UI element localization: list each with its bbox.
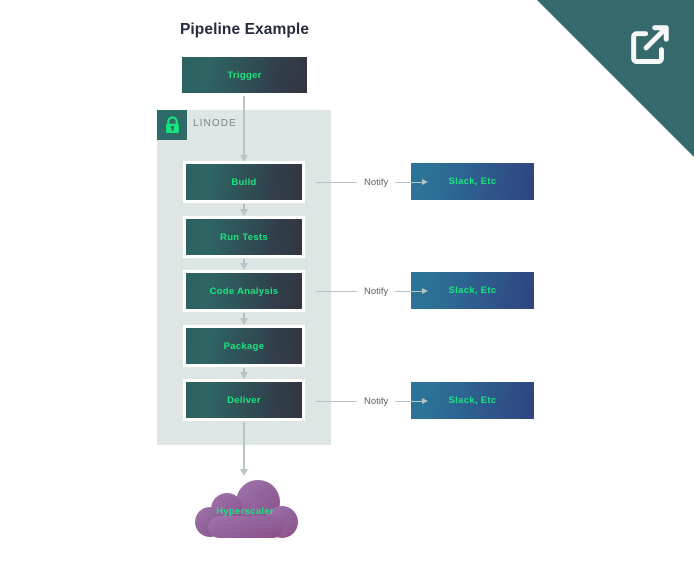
page-title: Pipeline Example [179,20,310,40]
notify-label: Notify [357,177,395,188]
connector-build-to-run-tests [243,204,245,210]
lock-icon [164,116,181,134]
node-trigger-label: Trigger [227,70,261,81]
corner-ribbon[interactable] [534,0,694,160]
edge-line-segment [316,182,357,183]
linode-group-label: LINODE [193,118,237,129]
notify-label: Notify [357,286,395,297]
arrowhead-icon [240,469,248,476]
node-package-label: Package [224,341,265,352]
external-link-icon[interactable] [626,22,672,68]
arrowhead-icon [240,372,248,379]
arrowhead-icon [422,288,428,294]
node-deliver[interactable]: Deliver [183,379,305,421]
node-code-analysis-label: Code Analysis [209,286,278,297]
edge-line-segment [395,401,422,402]
edge-line-segment [316,291,357,292]
connector-package-to-deliver [243,368,245,373]
connector-trigger-to-build [243,96,245,156]
arrowhead-icon [422,179,428,185]
edge-line-segment [395,291,422,292]
edge-line-segment [316,401,357,402]
arrowhead-icon [240,209,248,216]
node-slack-3-label: Slack, Etc [449,395,497,406]
node-slack-1-label: Slack, Etc [449,176,497,187]
notify-edge-build: Notify [316,174,428,190]
notify-edge-deliver: Notify [316,393,428,409]
node-build-label: Build [231,177,256,188]
node-build[interactable]: Build [183,161,305,203]
connector-run-tests-to-code-analysis [243,259,245,264]
arrowhead-icon [240,318,248,325]
connector-code-analysis-to-package [243,313,245,319]
node-run-tests[interactable]: Run Tests [183,216,305,258]
arrowhead-icon [240,263,248,270]
cloud-label: Hyperscaler [190,506,300,517]
notify-label: Notify [357,396,395,407]
connector-deliver-to-cloud [243,422,245,470]
edge-line-segment [395,182,422,183]
node-run-tests-label: Run Tests [220,232,268,243]
linode-badge [157,110,187,140]
node-package[interactable]: Package [183,325,305,367]
node-code-analysis[interactable]: Code Analysis [183,270,305,312]
arrowhead-icon [422,398,428,404]
notify-edge-code-analysis: Notify [316,283,428,299]
node-slack-2-label: Slack, Etc [449,285,497,296]
node-trigger[interactable]: Trigger [179,54,310,96]
node-deliver-label: Deliver [227,395,261,406]
